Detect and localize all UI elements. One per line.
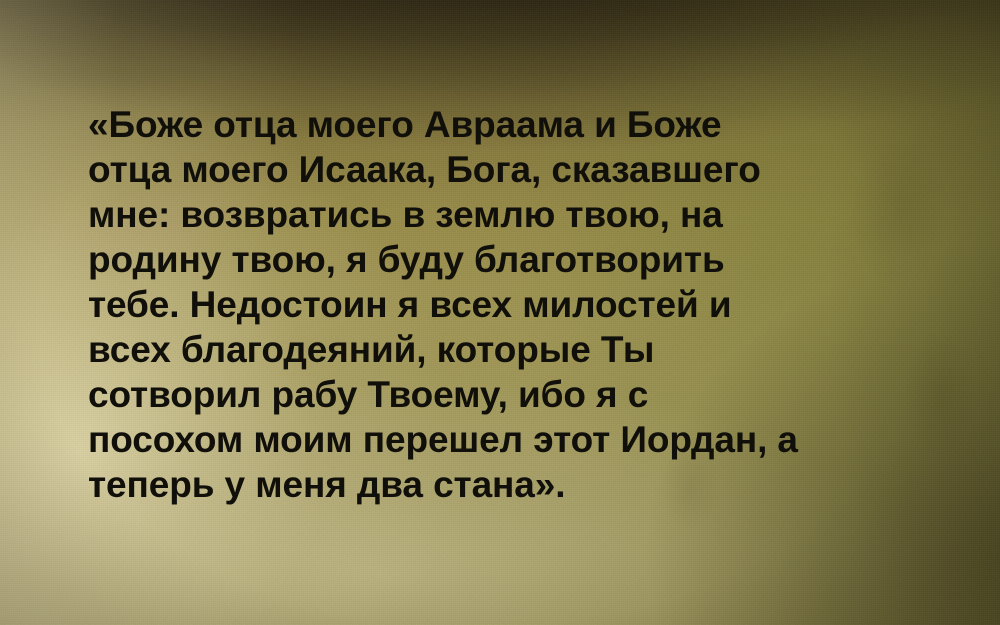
quote-line: посохом моим перешел этот Иордан, а: [88, 417, 818, 462]
quote-line: теперь у меня два стана».: [88, 462, 818, 507]
quote-card: «Боже отца моего Авраама и Боже отца мое…: [0, 0, 1000, 625]
quote-text-block: «Боже отца моего Авраама и Боже отца мое…: [88, 102, 818, 507]
quote-line: «Боже отца моего Авраама и Боже: [88, 102, 818, 147]
quote-line: тебе. Недостоин я всех милостей и: [88, 282, 818, 327]
quote-line: сотворил рабу Твоему, ибо я с: [88, 372, 818, 417]
quote-line: отца моего Исаака, Бога, сказавшего: [88, 147, 818, 192]
quote-line: всех благодеяний, которые Ты: [88, 327, 818, 372]
quote-line: мне: возвратись в землю твою, на: [88, 192, 818, 237]
quote-line: родину твою, я буду благотворить: [88, 237, 818, 282]
